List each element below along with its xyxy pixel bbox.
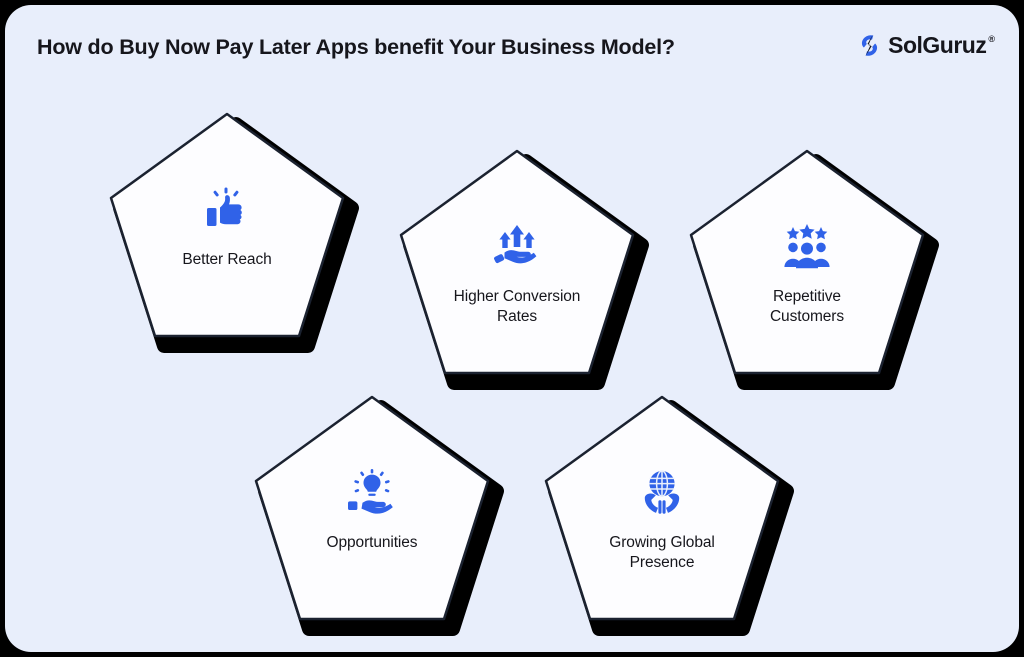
- benefit-card-higher-conversion-rates[interactable]: Higher Conversion Rates: [389, 145, 645, 393]
- benefit-card-growing-global-presence[interactable]: Growing Global Presence: [534, 391, 790, 639]
- brand-logo: SolGuruz ®: [856, 32, 995, 59]
- page-title: How do Buy Now Pay Later Apps benefit Yo…: [37, 35, 675, 60]
- solguruz-swirl-logo-icon: [856, 32, 883, 59]
- card-face: [99, 108, 355, 356]
- benefit-card-better-reach[interactable]: Better Reach: [99, 108, 355, 356]
- infographic-board: How do Buy Now Pay Later Apps benefit Yo…: [5, 5, 1019, 652]
- benefit-card-opportunities[interactable]: Opportunities: [244, 391, 500, 639]
- benefit-card-repetitive-customers[interactable]: Repetitive Customers: [679, 145, 935, 393]
- brand-registered-mark: ®: [988, 34, 995, 44]
- card-face: [534, 391, 790, 639]
- brand-name: SolGuruz: [888, 34, 986, 57]
- header: How do Buy Now Pay Later Apps benefit Yo…: [5, 5, 1019, 91]
- card-face: [389, 145, 645, 393]
- card-face: [679, 145, 935, 393]
- infographic-canvas: How do Buy Now Pay Later Apps benefit Yo…: [0, 0, 1024, 657]
- card-face: [244, 391, 500, 639]
